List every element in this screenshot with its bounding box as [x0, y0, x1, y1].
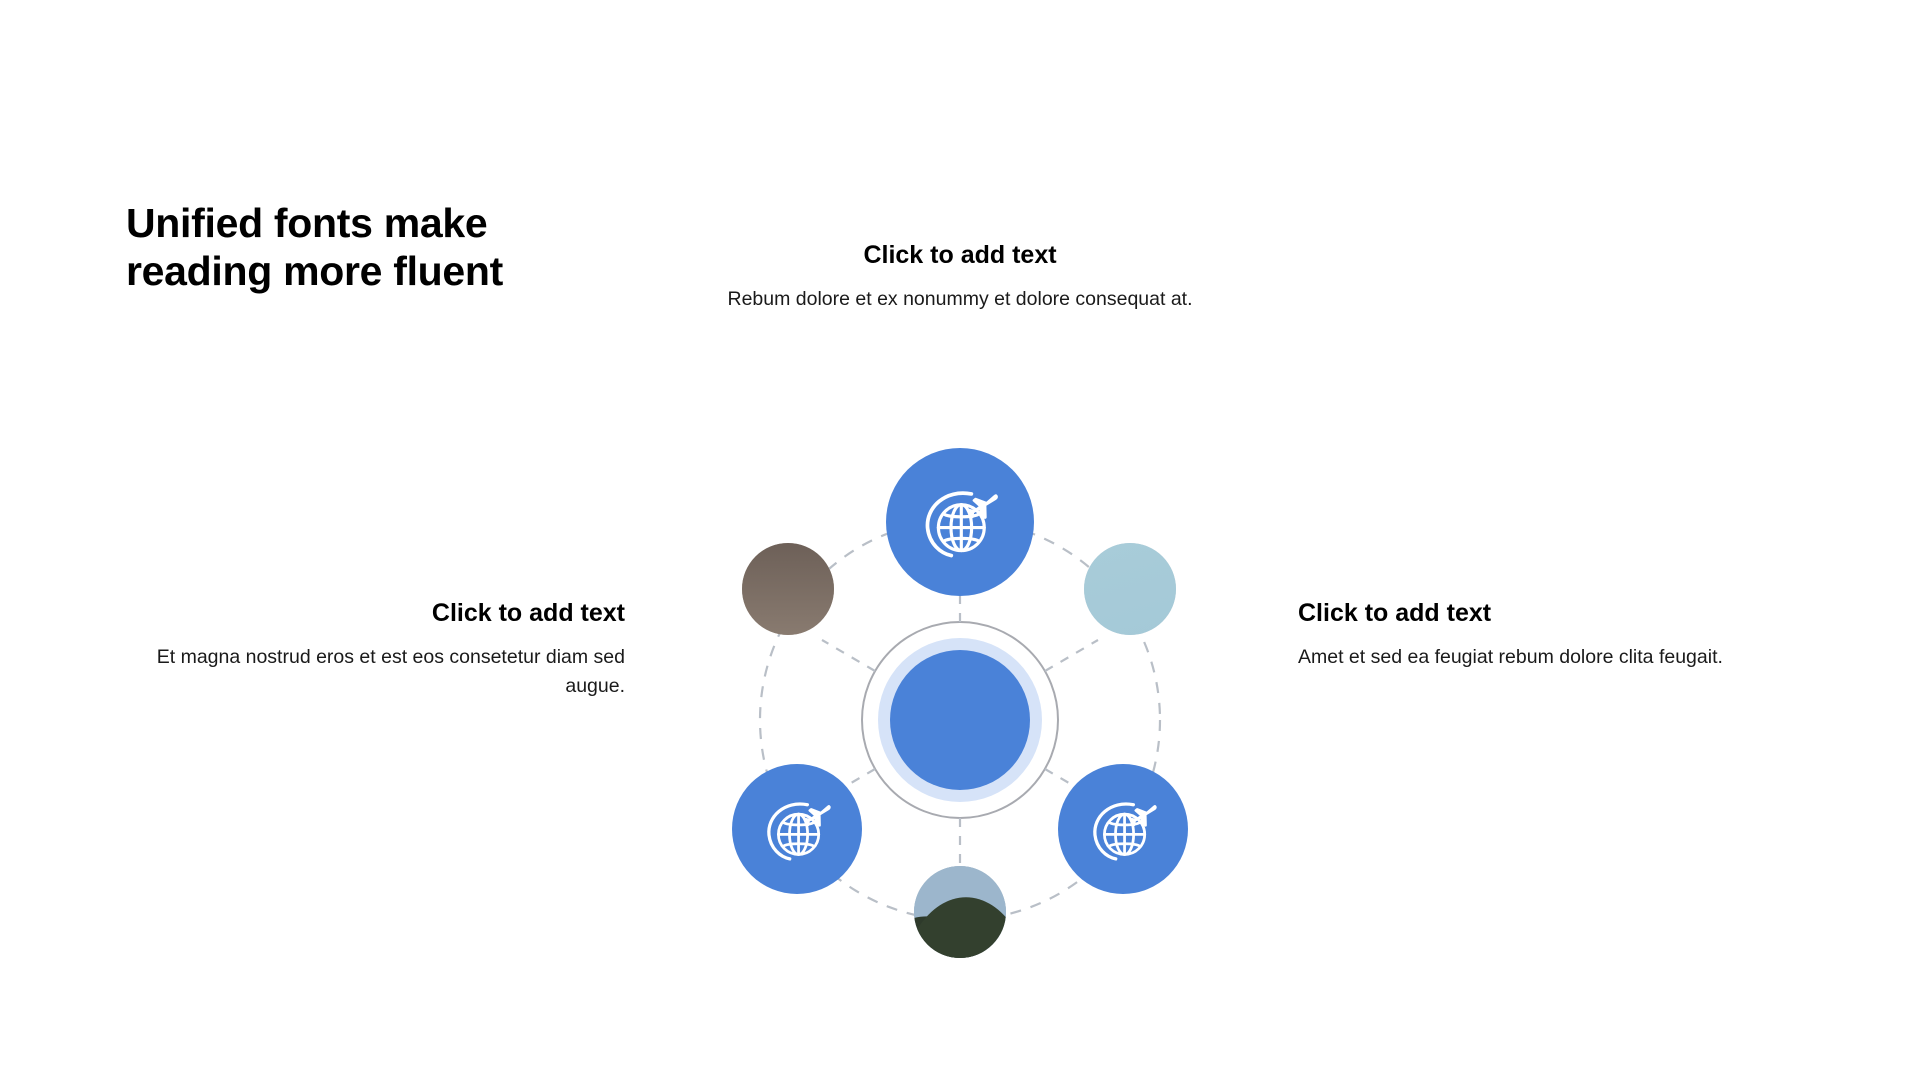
circular-diagram [700, 460, 1220, 980]
node-lower-right-globe-airplane[interactable] [1058, 764, 1188, 894]
page-title-line-2: reading more fluent [126, 248, 686, 296]
office-interior-photo [742, 543, 834, 635]
text-block-left[interactable]: Click to add text Et magna nostrud eros … [130, 598, 625, 700]
node-lower-left-globe-airplane[interactable] [732, 764, 862, 894]
page-title-line-1: Unified fonts make [126, 200, 686, 248]
architecture-balconies-photo [1084, 543, 1176, 635]
page-title[interactable]: Unified fonts make reading more fluent [126, 200, 686, 295]
node-top-globe-airplane[interactable] [886, 448, 1034, 596]
text-block-right[interactable]: Click to add text Amet et sed ea feugiat… [1298, 598, 1818, 672]
spoke-upper-left [822, 640, 875, 671]
node-upper-left-photo[interactable] [742, 543, 834, 635]
globe-airplane-icon [757, 789, 838, 870]
globe-airplane-icon [914, 476, 1006, 568]
spoke-upper-right [1045, 640, 1098, 671]
text-block-left-body[interactable]: Et magna nostrud eros et est eos consete… [130, 643, 625, 700]
text-block-top-body[interactable]: Rebum dolore et ex nonummy et dolore con… [710, 285, 1210, 313]
text-block-left-heading[interactable]: Click to add text [130, 598, 625, 629]
hub-center-circle[interactable] [890, 650, 1030, 790]
villa-terrace-dusk-photo [914, 866, 1006, 958]
slide-canvas: Unified fonts make reading more fluent C… [0, 0, 1920, 1080]
text-block-top-heading[interactable]: Click to add text [710, 240, 1210, 271]
text-block-right-heading[interactable]: Click to add text [1298, 598, 1818, 629]
node-bottom-photo[interactable] [914, 866, 1006, 958]
node-upper-right-photo[interactable] [1084, 543, 1176, 635]
text-block-top[interactable]: Click to add text Rebum dolore et ex non… [710, 240, 1210, 314]
globe-airplane-icon [1083, 789, 1164, 870]
text-block-right-body[interactable]: Amet et sed ea feugiat rebum dolore clit… [1298, 643, 1818, 671]
